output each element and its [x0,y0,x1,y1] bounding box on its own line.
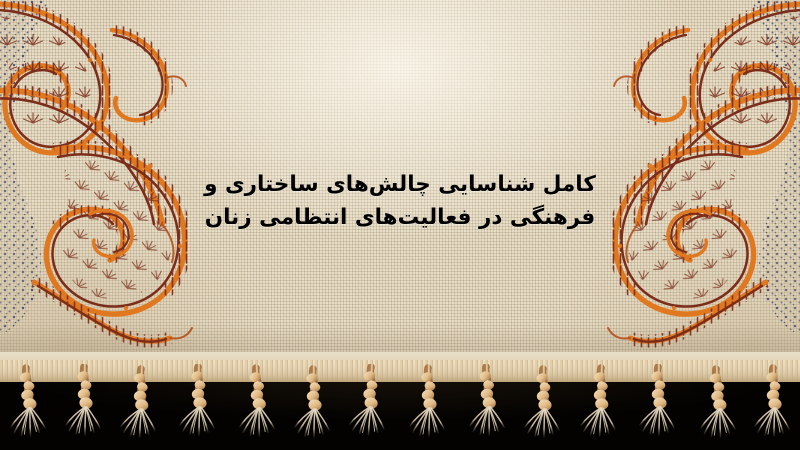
title-line-1: کامل شناسایی چالش‌های ساختاری و [150,168,650,201]
tassel-fringe [0,364,800,450]
title-line-2: فرهنگی در فعالیت‌های انتظامی زنان [150,201,650,234]
page-title: کامل شناسایی چالش‌های ساختاری و فرهنگی د… [0,168,800,234]
slide-canvas: کامل شناسایی چالش‌های ساختاری و فرهنگی د… [0,0,800,450]
